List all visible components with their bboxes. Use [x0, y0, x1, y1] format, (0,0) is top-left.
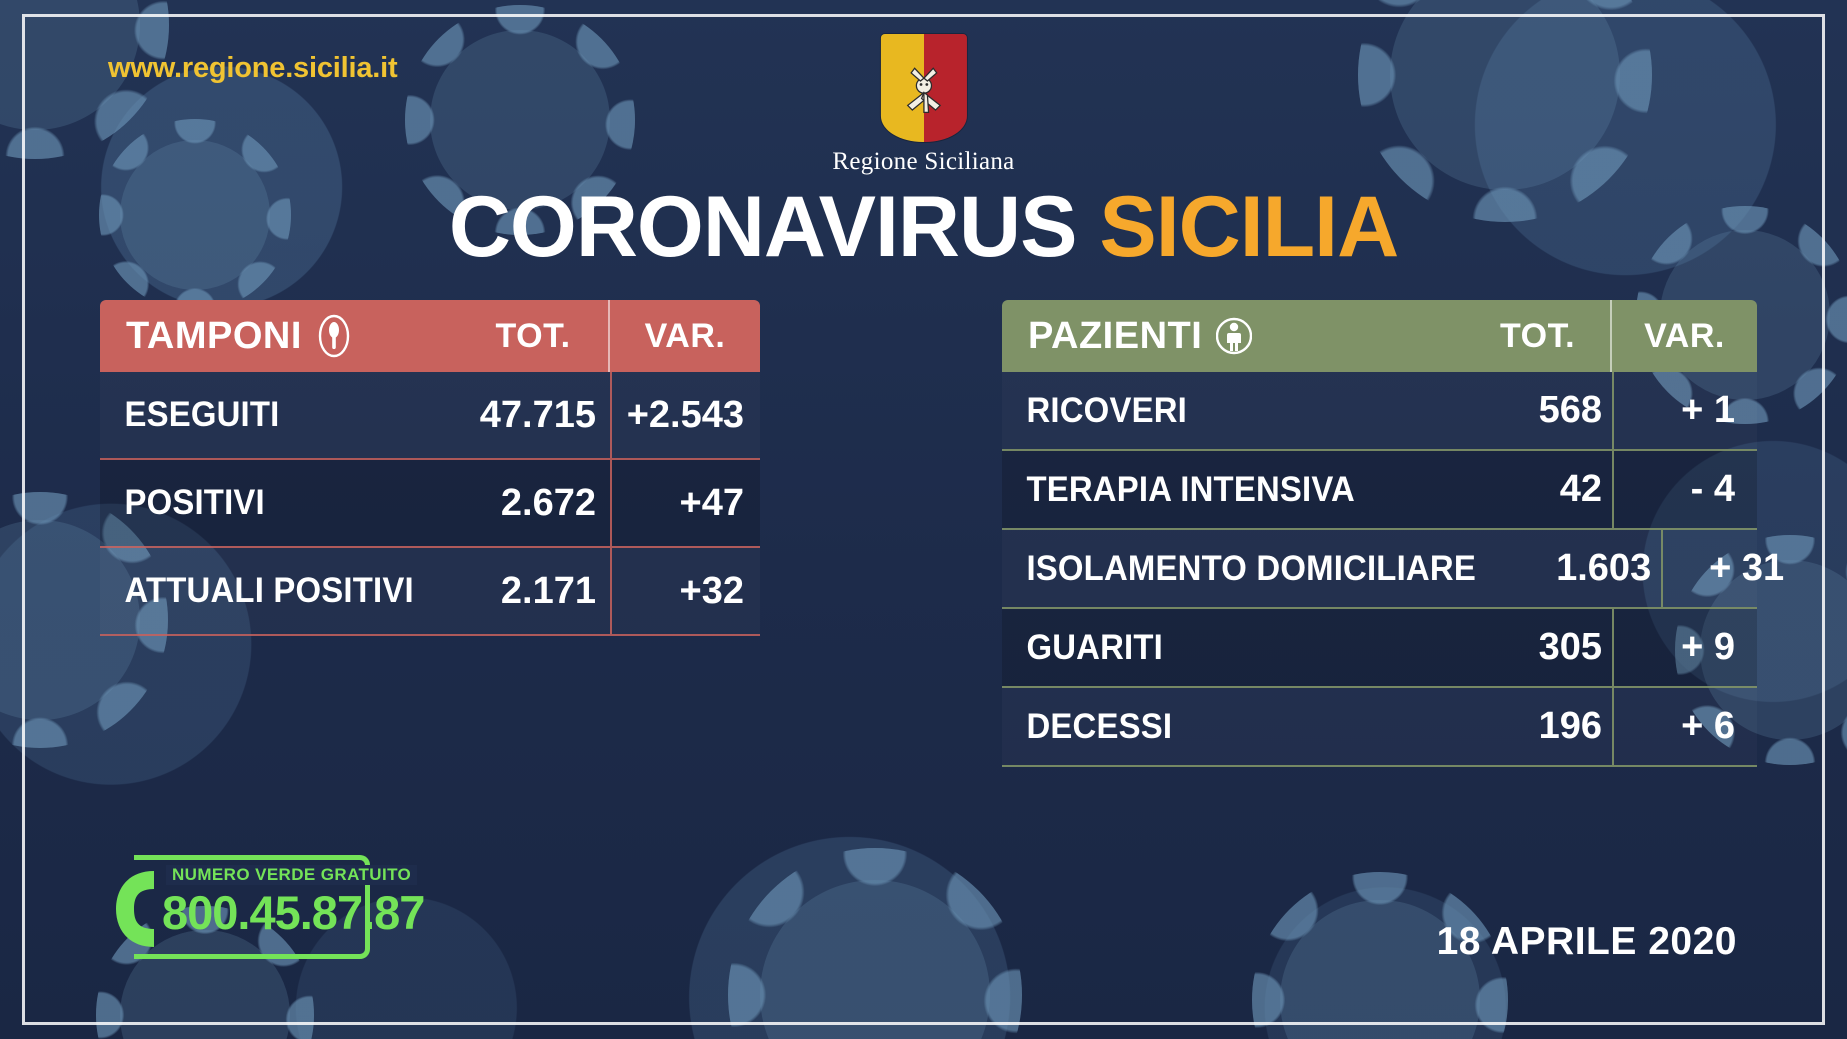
pazienti-header-label: PAZIENTI — [1028, 315, 1202, 358]
row-total: 47.715 — [446, 394, 610, 437]
pazienti-header-name: PAZIENTI — [1002, 313, 1465, 359]
row-variation: +47 — [610, 460, 760, 546]
site-url-text[interactable]: www.regione.sicilia.it — [108, 52, 397, 85]
row-total: 305 — [1457, 626, 1612, 669]
title-word-sicilia: SICILIA — [1099, 179, 1398, 275]
table-row: GUARITI 305 + 9 — [1002, 607, 1757, 686]
table-row: DECESSI 196 + 6 — [1002, 686, 1757, 765]
table-row: ATTUALI POSITIVI 2.171 +32 — [100, 546, 760, 634]
report-date: 18 APRILE 2020 — [1437, 920, 1737, 964]
regione-siciliana-logo: Regione Siciliana — [832, 34, 1014, 176]
pazienti-col-var: VAR. — [1610, 300, 1757, 372]
page-title: CORONAVIRUS SICILIA — [0, 184, 1847, 270]
table-row: ISOLAMENTO DOMICILIARE 1.603 + 31 — [1002, 528, 1757, 607]
row-variation: + 1 — [1612, 372, 1757, 449]
table-row: TERAPIA INTENSIVA 42 - 4 — [1002, 449, 1757, 528]
row-label: POSITIVI — [100, 483, 425, 523]
hotline-number[interactable]: 800.45.87.87 — [162, 885, 424, 940]
logo-caption: Regione Siciliana — [832, 148, 1014, 176]
sicilian-trinacria-crest-icon — [880, 34, 966, 142]
row-total: 2.672 — [446, 482, 610, 525]
title-word-coronavirus: CORONAVIRUS — [449, 179, 1077, 275]
row-variation: +2.543 — [610, 372, 760, 458]
row-label: ISOLAMENTO DOMICILIARE — [1002, 549, 1476, 589]
tamponi-col-tot: TOT. — [458, 300, 608, 372]
row-variation: + 31 — [1661, 530, 1806, 607]
tamponi-header-name: TAMPONI — [100, 313, 458, 359]
row-variation: + 6 — [1612, 688, 1757, 765]
infographic-poster: www.regione.sicilia.it Regione Siciliana — [0, 0, 1847, 1039]
hotline-caption: NUMERO VERDE GRATUITO — [166, 865, 417, 885]
tamponi-table-body: ESEGUITI 47.715 +2.543 POSITIVI 2.672 +4… — [100, 372, 760, 636]
row-label: DECESSI — [1002, 707, 1430, 747]
row-label: ATTUALI POSITIVI — [100, 571, 425, 611]
row-label: ESEGUITI — [100, 395, 425, 435]
pazienti-col-tot: TOT. — [1465, 300, 1610, 372]
tamponi-table-header: TAMPONI TOT. VAR. — [100, 300, 760, 372]
pazienti-table-body: RICOVERI 568 + 1 TERAPIA INTENSIVA 42 - … — [1002, 372, 1757, 767]
pazienti-table-header: PAZIENTI TOT. VAR. — [1002, 300, 1757, 372]
row-variation: - 4 — [1612, 451, 1757, 528]
hotline-box[interactable]: NUMERO VERDE GRATUITO 800.45.87.87 — [108, 855, 370, 963]
row-total: 2.171 — [446, 570, 610, 613]
row-total: 196 — [1457, 705, 1612, 748]
row-label: GUARITI — [1002, 628, 1430, 668]
table-row: POSITIVI 2.672 +47 — [100, 458, 760, 546]
table-row: RICOVERI 568 + 1 — [1002, 372, 1757, 449]
row-variation: +32 — [610, 548, 760, 634]
patient-person-icon — [1216, 313, 1252, 359]
virus-decoration — [1390, 0, 1620, 190]
row-total: 568 — [1457, 389, 1612, 432]
tamponi-col-var: VAR. — [608, 300, 760, 372]
tamponi-table: TAMPONI TOT. VAR. ESEGUITI 47.715 +2.543 — [100, 300, 760, 636]
pazienti-table: PAZIENTI TOT. VAR. RICOVERI 568 + 1 TER — [1002, 300, 1757, 767]
row-total: 1.603 — [1506, 547, 1661, 590]
row-label: TERAPIA INTENSIVA — [1002, 470, 1430, 510]
telephone-handset-icon — [108, 867, 162, 951]
swab-test-icon — [316, 313, 352, 359]
row-label: RICOVERI — [1002, 391, 1430, 431]
row-variation: + 9 — [1612, 609, 1757, 686]
virus-decoration — [760, 880, 990, 1039]
row-total: 42 — [1457, 468, 1612, 511]
trinacria-glyph — [894, 59, 952, 117]
table-row: ESEGUITI 47.715 +2.543 — [100, 372, 760, 458]
tamponi-header-label: TAMPONI — [126, 315, 302, 358]
